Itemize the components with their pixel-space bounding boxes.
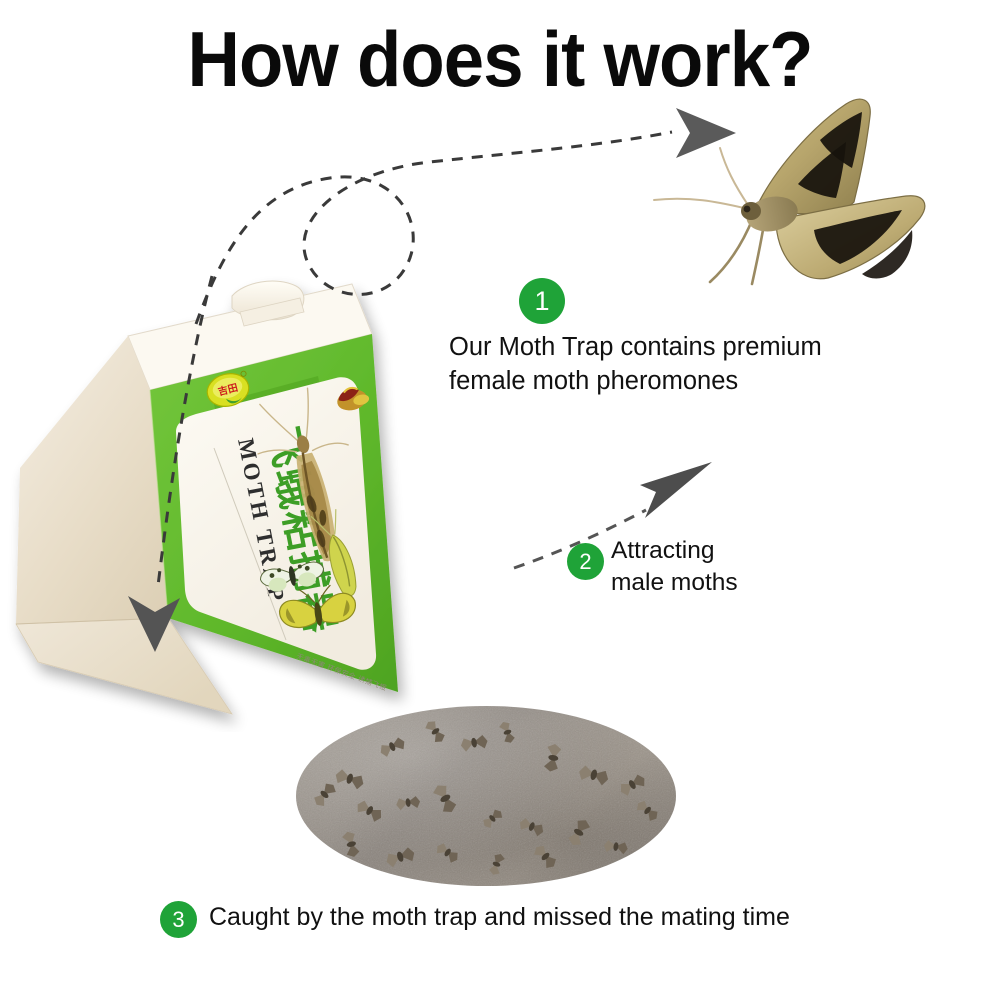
trap-floor (16, 618, 232, 714)
step-1-badge: 1 (519, 278, 565, 324)
attraction-arrowhead (640, 462, 712, 518)
adult-moth-photo (648, 78, 978, 318)
step-2-badge: 2 (567, 543, 604, 580)
step-3-badge: 3 (160, 901, 197, 938)
caught-moths-photo (296, 706, 676, 886)
infographic-canvas: How does it work? (0, 0, 1000, 1000)
trap-interior-left (16, 336, 168, 624)
step-1-text: Our Moth Trap contains premium female mo… (449, 331, 869, 398)
step-3-text: Caught by the moth trap and missed the m… (209, 901, 849, 934)
moth-antennae (654, 148, 748, 208)
step-2-text: Attracting male moths (611, 535, 891, 600)
